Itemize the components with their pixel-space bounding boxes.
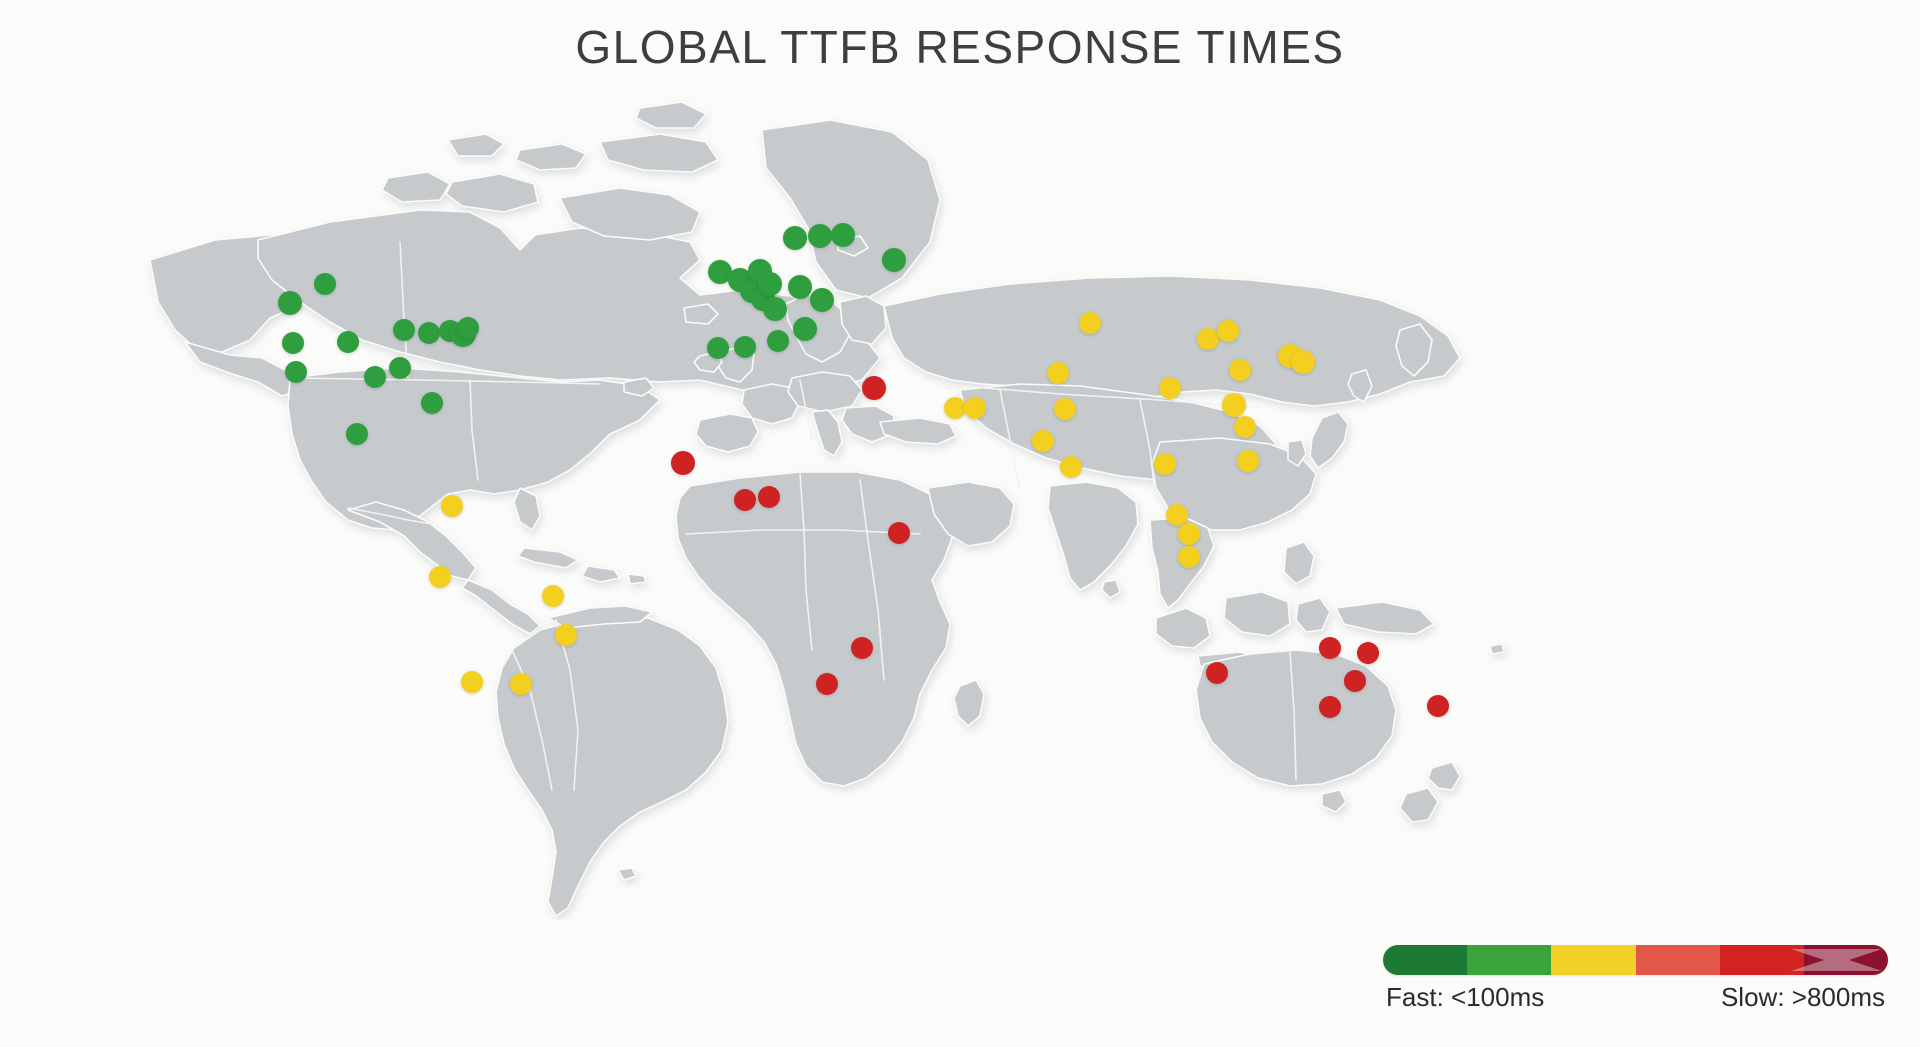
ttfb-dot-medium[interactable] xyxy=(441,495,463,517)
land-japan xyxy=(1310,412,1348,468)
ttfb-dot-medium[interactable] xyxy=(429,566,451,588)
land-sulawesi xyxy=(1296,598,1330,632)
ttfb-dot-medium[interactable] xyxy=(542,585,564,607)
ttfb-dot-medium[interactable] xyxy=(1229,359,1251,381)
legend-slow-label: Slow: >800ms xyxy=(1721,982,1885,1013)
land-centralamerica xyxy=(462,580,540,634)
ttfb-dot-fast[interactable] xyxy=(421,392,443,414)
land-tasmania xyxy=(1322,790,1346,812)
land-florida xyxy=(514,488,540,530)
land-india xyxy=(1048,482,1138,590)
ttfb-dot-fast[interactable] xyxy=(810,288,834,312)
land-turkey xyxy=(880,418,956,444)
ttfb-dot-medium[interactable] xyxy=(555,624,577,646)
land-srilanka xyxy=(1102,580,1120,598)
ttfb-dot-fast[interactable] xyxy=(389,357,411,379)
land-iberia xyxy=(696,414,758,452)
ttfb-dot-fast[interactable] xyxy=(393,319,415,341)
ttfb-dot-slow[interactable] xyxy=(1319,696,1341,718)
page-title: GLOBAL TTFB RESPONSE TIMES xyxy=(0,20,1920,74)
ttfb-dot-medium[interactable] xyxy=(1197,328,1219,350)
ttfb-dot-fast[interactable] xyxy=(783,226,807,250)
legend-segment-salmon-red xyxy=(1636,945,1720,975)
land-puertorico xyxy=(628,574,646,584)
land-cuba xyxy=(518,548,578,568)
land-victoria xyxy=(446,174,538,212)
land-banks xyxy=(382,172,450,202)
ttfb-dot-slow[interactable] xyxy=(1319,637,1341,659)
legend-segment-dark-green xyxy=(1383,945,1467,975)
ttfb-dot-medium[interactable] xyxy=(1291,350,1315,374)
ttfb-dot-medium[interactable] xyxy=(1159,377,1181,399)
ttfb-dot-medium[interactable] xyxy=(1178,523,1200,545)
legend-labels: Fast: <100ms Slow: >800ms xyxy=(1383,982,1888,1013)
ttfb-dot-fast[interactable] xyxy=(793,317,817,341)
ttfb-dot-fast[interactable] xyxy=(364,366,386,388)
land-germany-poland xyxy=(788,372,862,412)
land-arctic-isle-a xyxy=(516,144,586,170)
ttfb-dot-medium[interactable] xyxy=(1079,312,1101,334)
legend-segment-green xyxy=(1467,945,1551,975)
ttfb-dot-medium[interactable] xyxy=(1234,416,1256,438)
land-arctic-isle-c xyxy=(448,134,504,156)
land-madagascar xyxy=(954,680,984,726)
land-newguinea xyxy=(1336,602,1434,634)
land-arctic-isle-b xyxy=(636,102,706,128)
ttfb-dot-medium[interactable] xyxy=(1178,546,1200,568)
ttfb-dot-medium[interactable] xyxy=(1060,456,1082,478)
legend-segment-red xyxy=(1720,945,1804,975)
land-italy xyxy=(812,410,842,456)
ttfb-dot-medium[interactable] xyxy=(1032,430,1054,452)
ttfb-dot-fast[interactable] xyxy=(346,423,368,445)
ttfb-dot-fast[interactable] xyxy=(314,273,336,295)
ttfb-dot-medium[interactable] xyxy=(1237,450,1259,472)
ttfb-dot-medium[interactable] xyxy=(944,397,966,419)
land-hispaniola xyxy=(582,566,620,582)
land-philippines xyxy=(1284,542,1314,584)
ttfb-dot-medium[interactable] xyxy=(1217,320,1239,342)
ttfb-dot-fast[interactable] xyxy=(457,317,479,339)
land-sumatra xyxy=(1156,608,1210,648)
ttfb-dot-fast[interactable] xyxy=(418,322,440,344)
ttfb-dot-slow[interactable] xyxy=(888,522,910,544)
ttfb-dot-slow[interactable] xyxy=(758,486,780,508)
land-falklands xyxy=(618,868,636,880)
land-fiji xyxy=(1490,644,1504,654)
ttfb-dot-medium[interactable] xyxy=(1154,453,1176,475)
ttfb-dot-fast[interactable] xyxy=(808,224,832,248)
legend-segment-yellow xyxy=(1551,945,1635,975)
ttfb-dot-fast[interactable] xyxy=(882,248,906,272)
ttfb-dot-slow[interactable] xyxy=(862,376,886,400)
legend-segment-dark-maroon xyxy=(1804,945,1888,975)
ttfb-dot-slow[interactable] xyxy=(1206,662,1228,684)
ttfb-dot-fast[interactable] xyxy=(831,223,855,247)
ttfb-dot-slow[interactable] xyxy=(671,451,695,475)
ttfb-dot-medium[interactable] xyxy=(1047,362,1069,384)
legend-gradient-bar xyxy=(1383,945,1888,975)
land-alaska-pan xyxy=(185,342,300,396)
ttfb-dot-medium[interactable] xyxy=(1222,393,1246,417)
land-ellesmere xyxy=(600,134,718,172)
ttfb-dot-fast[interactable] xyxy=(278,291,302,315)
land-south-america xyxy=(496,614,728,916)
land-borneo xyxy=(1224,592,1290,636)
legend-fast-label: Fast: <100ms xyxy=(1386,982,1544,1013)
world-map-svg xyxy=(0,90,1920,920)
land-greenland xyxy=(762,120,940,298)
ttfb-dot-fast[interactable] xyxy=(734,336,756,358)
ttfb-dot-medium[interactable] xyxy=(964,397,986,419)
ttfb-dot-slow[interactable] xyxy=(816,673,838,695)
ttfb-dot-fast[interactable] xyxy=(337,331,359,353)
ttfb-dot-slow[interactable] xyxy=(851,637,873,659)
ttfb-dot-fast[interactable] xyxy=(763,297,787,321)
ttfb-dot-slow[interactable] xyxy=(1357,642,1379,664)
ttfb-dot-fast[interactable] xyxy=(788,275,812,299)
ttfb-dot-fast[interactable] xyxy=(282,332,304,354)
ttfb-dot-fast[interactable] xyxy=(767,330,789,352)
land-newzealand-north xyxy=(1428,762,1460,790)
ttfb-dot-slow[interactable] xyxy=(734,489,756,511)
ttfb-dot-medium[interactable] xyxy=(1054,398,1076,420)
map-canvas: GLOBAL TTFB RESPONSE TIMES xyxy=(0,0,1920,1047)
world-map xyxy=(0,90,1920,920)
ttfb-dot-fast[interactable] xyxy=(758,272,782,296)
ttfb-dot-fast[interactable] xyxy=(285,361,307,383)
ttfb-dot-medium[interactable] xyxy=(461,671,483,693)
ttfb-dot-slow[interactable] xyxy=(1344,670,1366,692)
ttfb-dot-fast[interactable] xyxy=(707,337,729,359)
land-newzealand-south xyxy=(1400,788,1438,822)
ttfb-dot-medium[interactable] xyxy=(510,673,532,695)
ttfb-dot-slow[interactable] xyxy=(1427,695,1449,717)
legend: Fast: <100ms Slow: >800ms xyxy=(1383,945,1888,1013)
